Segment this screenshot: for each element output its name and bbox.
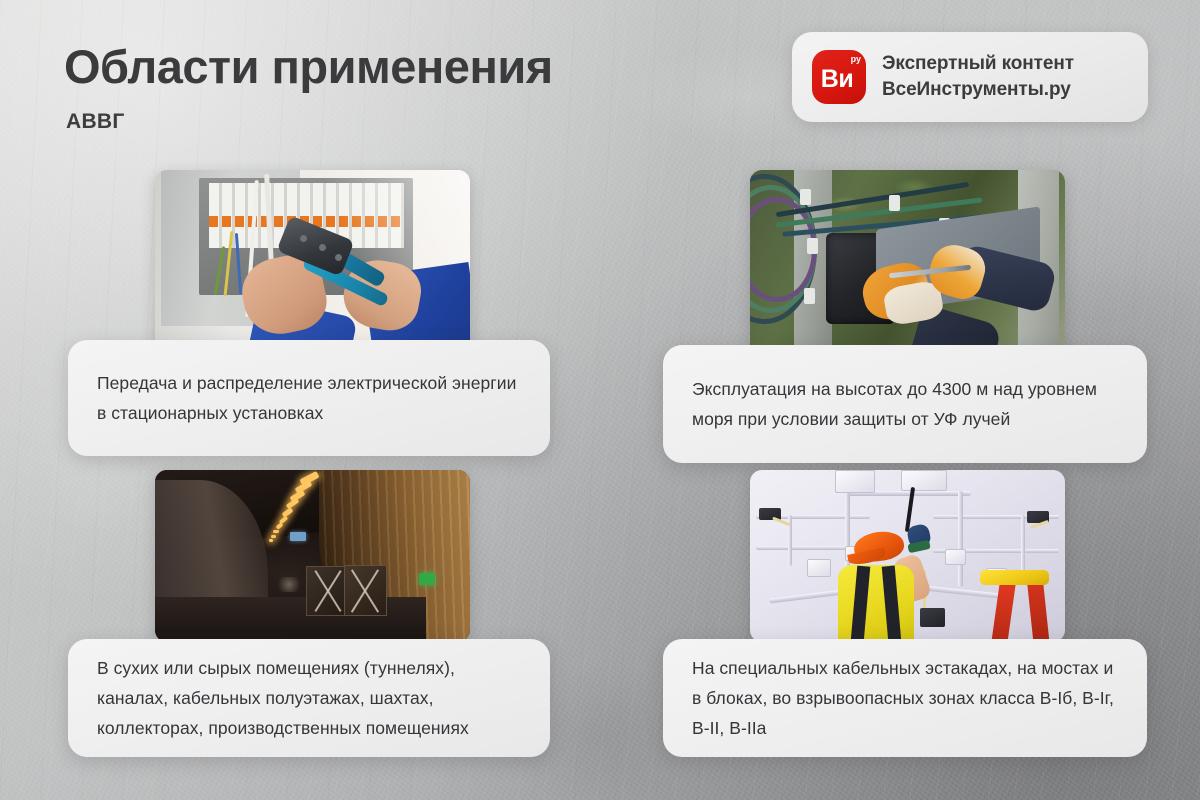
- caption-text-4: На специальных кабельных эстакадах, на м…: [692, 653, 1118, 743]
- brand-badge: Ви ру Экспертный контент ВсеИнструменты.…: [792, 32, 1148, 122]
- caption-card-3: В сухих или сырых помещениях (туннелях),…: [68, 639, 550, 757]
- logo-superscript-text: ру: [851, 55, 861, 64]
- page-subtitle: АВВГ: [66, 110, 125, 134]
- vseinstrumenty-logo-icon: Ви ру: [812, 50, 866, 104]
- brand-badge-text: Экспертный контент ВсеИнструменты.ру: [882, 53, 1074, 101]
- caption-text-1: Передача и распределение электрической э…: [97, 368, 521, 428]
- caption-card-2: Эксплуатация на высотах до 4300 м над ур…: [663, 345, 1147, 463]
- caption-card-1: Передача и распределение электрической э…: [68, 340, 550, 456]
- logo-mark-text: Ви: [821, 67, 853, 92]
- caption-text-3: В сухих или сырых помещениях (туннелях),…: [97, 653, 521, 743]
- caption-card-4: На специальных кабельных эстакадах, на м…: [663, 639, 1147, 757]
- photo-conduit-installation: [750, 470, 1065, 642]
- slide-canvas: Области применения АВВГ Ви ру Экспертный…: [0, 0, 1200, 800]
- page-title: Области применения: [64, 42, 553, 93]
- photo-cable-junction-box: [750, 170, 1065, 360]
- photo-tunnel: [155, 470, 470, 642]
- caption-text-2: Эксплуатация на высотах до 4300 м над ур…: [692, 374, 1118, 434]
- photo-electrician-panel: [155, 170, 470, 360]
- brand-badge-line-1: Экспертный контент: [882, 53, 1074, 75]
- brand-badge-line-2: ВсеИнструменты.ру: [882, 79, 1074, 101]
